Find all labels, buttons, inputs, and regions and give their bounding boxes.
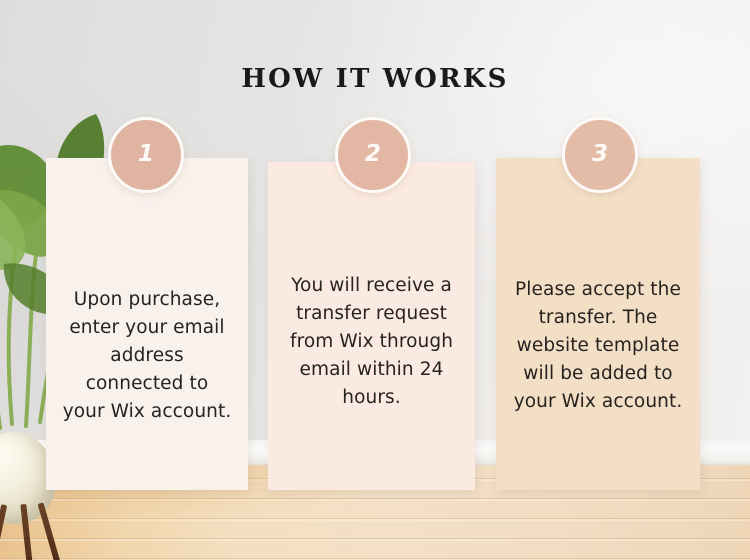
- step-card-3: Please accept the transfer. The website …: [496, 158, 700, 490]
- step-badge-2-number: 2: [365, 143, 381, 166]
- step-badge-2: 2: [335, 117, 411, 193]
- how-it-works-infographic: HOW IT WORKS Upon purchase, enter your e…: [0, 0, 750, 560]
- step-badge-3: 3: [562, 117, 638, 193]
- step-card-1: Upon purchase, enter your email address …: [46, 158, 248, 490]
- step-badge-3-number: 3: [592, 143, 608, 166]
- step-badge-1: 1: [108, 117, 184, 193]
- step-card-2: You will receive a transfer request from…: [268, 162, 475, 490]
- page-title: HOW IT WORKS: [0, 64, 750, 94]
- step-card-1-text: Upon purchase, enter your email address …: [62, 286, 232, 426]
- step-card-2-text: You will receive a transfer request from…: [284, 272, 459, 412]
- step-card-3-text: Please accept the transfer. The website …: [512, 276, 684, 416]
- step-badge-1-number: 1: [138, 143, 154, 166]
